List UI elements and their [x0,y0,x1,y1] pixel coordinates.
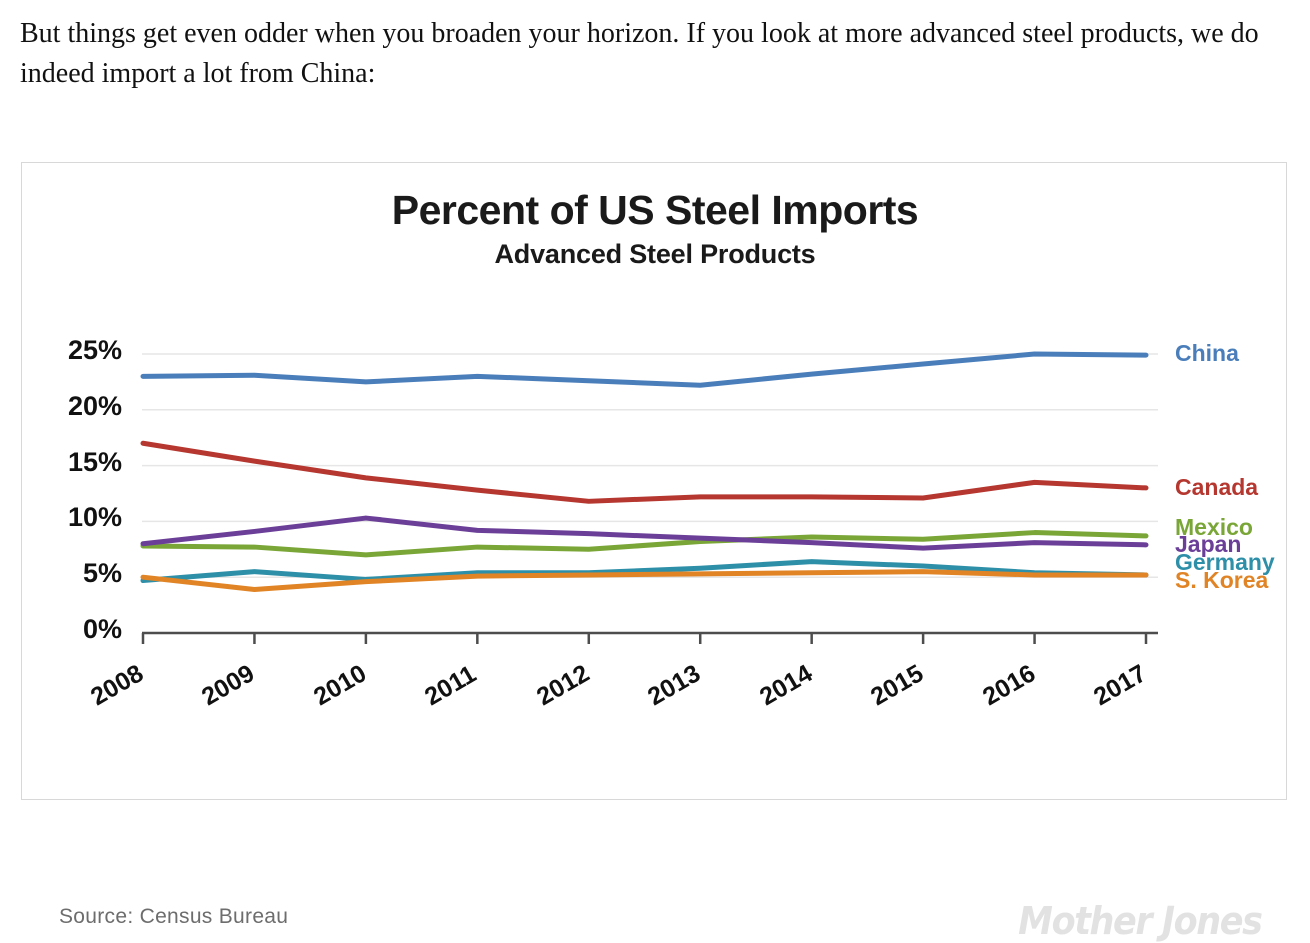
series-line-china [143,354,1146,385]
y-axis-tick-label: 25% [32,335,122,366]
chart-plot-area: 0%5%10%15%20%25% 20082009201020112012201… [22,163,1288,801]
y-axis-tick-label: 15% [32,447,122,478]
y-axis-tick-label: 10% [32,502,122,533]
mother-jones-logo: Mother Jones [1019,899,1262,943]
y-axis-tick-label: 20% [32,391,122,422]
series-line-canada [143,443,1146,501]
legend-label-china: China [1175,340,1239,367]
source-note: Source: Census Bureau [59,905,288,929]
chart-card: Percent of US Steel Imports Advanced Ste… [21,162,1287,800]
y-axis-tick-label: 5% [32,558,122,589]
y-axis-tick-label: 0% [32,614,122,645]
legend-label-canada: Canada [1175,474,1258,501]
article-intro-text: But things get even odder when you broad… [20,14,1270,94]
legend-label-s-korea: S. Korea [1175,567,1268,594]
